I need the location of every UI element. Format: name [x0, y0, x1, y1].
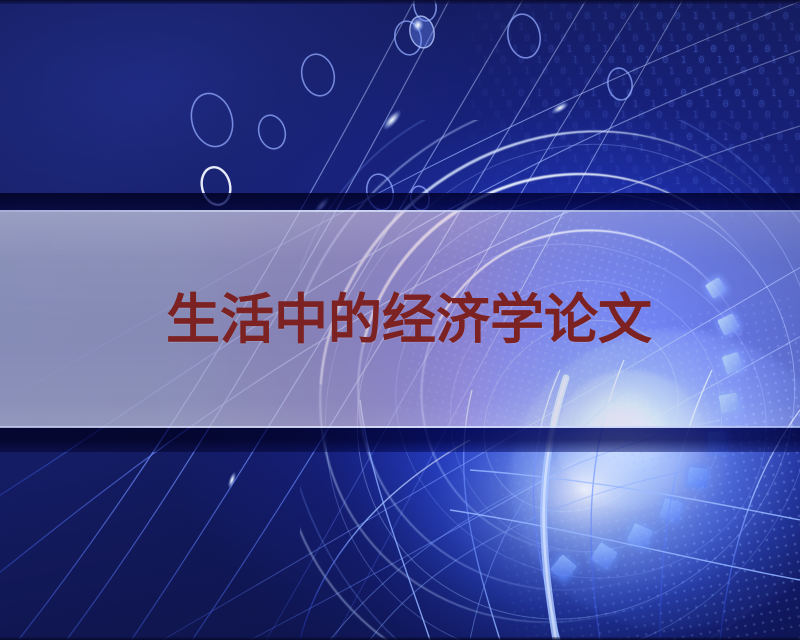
- banner-upper-dark-band: [0, 193, 800, 211]
- top-edge-line: [0, 0, 800, 4]
- banner-lower-dark-band: [0, 428, 800, 452]
- slide-title: 生活中的经济学论文: [166, 293, 652, 347]
- slide-canvas: 0 1 0 0 1 0 1 1 0 0 0 1 0 1 1 0 0 1 0 0 …: [0, 0, 800, 640]
- title-container: 生活中的经济学论文: [0, 212, 800, 427]
